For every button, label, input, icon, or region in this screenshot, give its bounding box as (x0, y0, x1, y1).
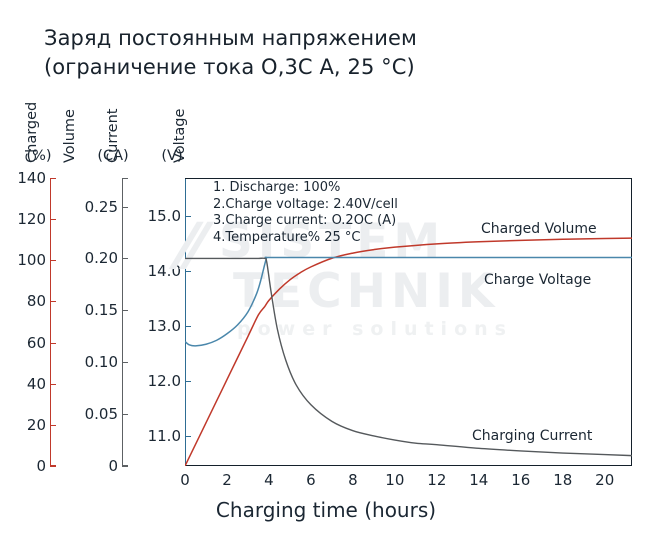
x-tick-label-5: 10 (385, 471, 404, 489)
x-axis-title: Charging time (hours) (0, 498, 652, 522)
y-tick-label-voltage-2: 13.0 (91, 317, 181, 335)
annotation-line-3: 3.Charge current: O.2OC (A) (213, 213, 398, 230)
y-tick-label-voltage-3: 14.0 (91, 262, 181, 280)
axis-title-volume: Volume (62, 109, 78, 163)
x-tick-label-8: 16 (511, 471, 530, 489)
y-tick-label-charged-volume-7: 140 (0, 169, 46, 187)
y-tick-charged-volume-7 (50, 178, 56, 179)
curve-charge-voltage (185, 257, 632, 346)
y-tick-current-2 (122, 362, 128, 363)
y-tick-charged-volume-1 (50, 425, 56, 426)
y-tick-label-charged-volume-3: 60 (0, 334, 46, 352)
x-tick-label-6: 12 (427, 471, 446, 489)
x-tick-label-0: 0 (180, 471, 190, 489)
y-tick-label-voltage-4: 15.0 (91, 207, 181, 225)
annotation-block: 1. Discharge: 100% 2.Charge voltage: 2.4… (213, 180, 398, 246)
annotation-line-1: 1. Discharge: 100% (213, 180, 398, 197)
y-tick-label-voltage-0: 11.0 (91, 427, 181, 445)
y-tick-current-1 (122, 414, 128, 415)
y-tick-label-voltage-1: 12.0 (91, 372, 181, 390)
curve-label-charge-voltage: Charge Voltage (484, 272, 591, 288)
x-tick-label-3: 6 (306, 471, 316, 489)
annotation-line-4: 4.Temperature% 25 °C (213, 230, 398, 247)
y-tick-label-current-2: 0.10 (28, 353, 118, 371)
y-tick-charged-volume-2 (50, 384, 56, 385)
y-tick-current-0 (122, 466, 128, 467)
axis-unit-voltage: (V) (155, 148, 189, 164)
y-tick-current-3 (122, 310, 128, 311)
x-tick-label-4: 8 (348, 471, 358, 489)
annotation-line-2: 2.Charge voltage: 2.40V/cell (213, 197, 398, 214)
axis-unit-current: (CA) (93, 148, 133, 164)
y-tick-charged-volume-6 (50, 219, 56, 220)
y-tick-label-charged-volume-2: 40 (0, 375, 46, 393)
x-tick-label-10: 20 (595, 471, 614, 489)
y-tick-label-current-1: 0.05 (28, 405, 118, 423)
page-title: Заряд постоянным напряжением (ограничени… (44, 24, 624, 82)
x-tick-label-9: 18 (553, 471, 572, 489)
x-tick-label-7: 14 (469, 471, 488, 489)
axis-unit-charged: (%) (22, 148, 56, 164)
y-tick-label-current-0: 0 (28, 457, 118, 475)
x-tick-label-1: 2 (222, 471, 232, 489)
curve-label-charging-current: Charging Current (472, 428, 592, 444)
y-axis-current-top-cap (122, 178, 128, 179)
y-tick-current-4 (122, 258, 128, 259)
y-tick-charged-volume-3 (50, 343, 56, 344)
x-tick-label-2: 4 (264, 471, 274, 489)
curve-label-charged-volume: Charged Volume (481, 221, 597, 237)
